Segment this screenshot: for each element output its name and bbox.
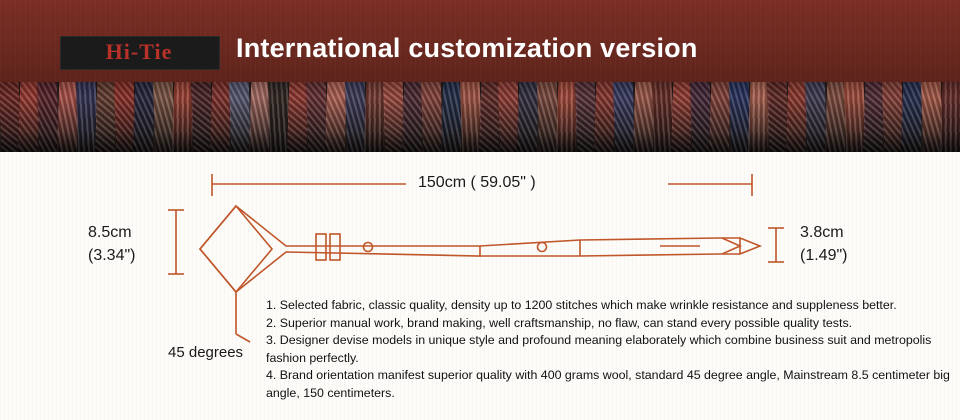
tie-thumbnail	[940, 82, 960, 152]
tie-stitch-point-1	[364, 243, 373, 252]
page-title: International customization version	[236, 33, 698, 64]
brand-logo-label: Hi-Tie	[60, 36, 218, 68]
tie-small-blade-tip	[740, 238, 760, 254]
right-width-label-cm: 3.8cm	[800, 224, 844, 242]
angle-leader-diagonal	[236, 334, 250, 342]
list-item: 4. Brand orientation manifest superior q…	[266, 367, 956, 402]
tie-big-blade-diamond	[200, 206, 272, 292]
tie-keeper-loop-1	[316, 234, 326, 260]
right-width-label-inch: (1.49")	[800, 247, 847, 265]
angle-label: 45 degrees	[168, 344, 243, 361]
tie-small-blade-fold	[722, 238, 740, 254]
tie-stitch-point-2	[538, 243, 547, 252]
list-item: 2. Superior manual work, brand making, w…	[266, 315, 956, 333]
list-item: 3. Designer devise models in unique styl…	[266, 332, 956, 367]
tie-body-bottom-edge	[480, 254, 740, 256]
tie-photo-strip	[0, 82, 960, 152]
left-width-label-cm: 8.5cm	[88, 224, 132, 242]
tie-dimension-diagram: 150cm ( 59.05" ) 8.5cm (3.34") 3.8cm (1.…	[0, 152, 960, 420]
length-label: 150cm ( 59.05" )	[418, 174, 536, 192]
tie-keeper-loop-2	[330, 234, 340, 260]
product-spec-page: Hi-Tie International customization versi…	[0, 0, 960, 420]
feature-bullet-list: 1. Selected fabric, classic quality, den…	[266, 297, 956, 402]
tie-body-top-edge	[480, 238, 740, 246]
list-item: 1. Selected fabric, classic quality, den…	[266, 297, 956, 315]
left-width-label-inch: (3.34")	[88, 247, 135, 265]
